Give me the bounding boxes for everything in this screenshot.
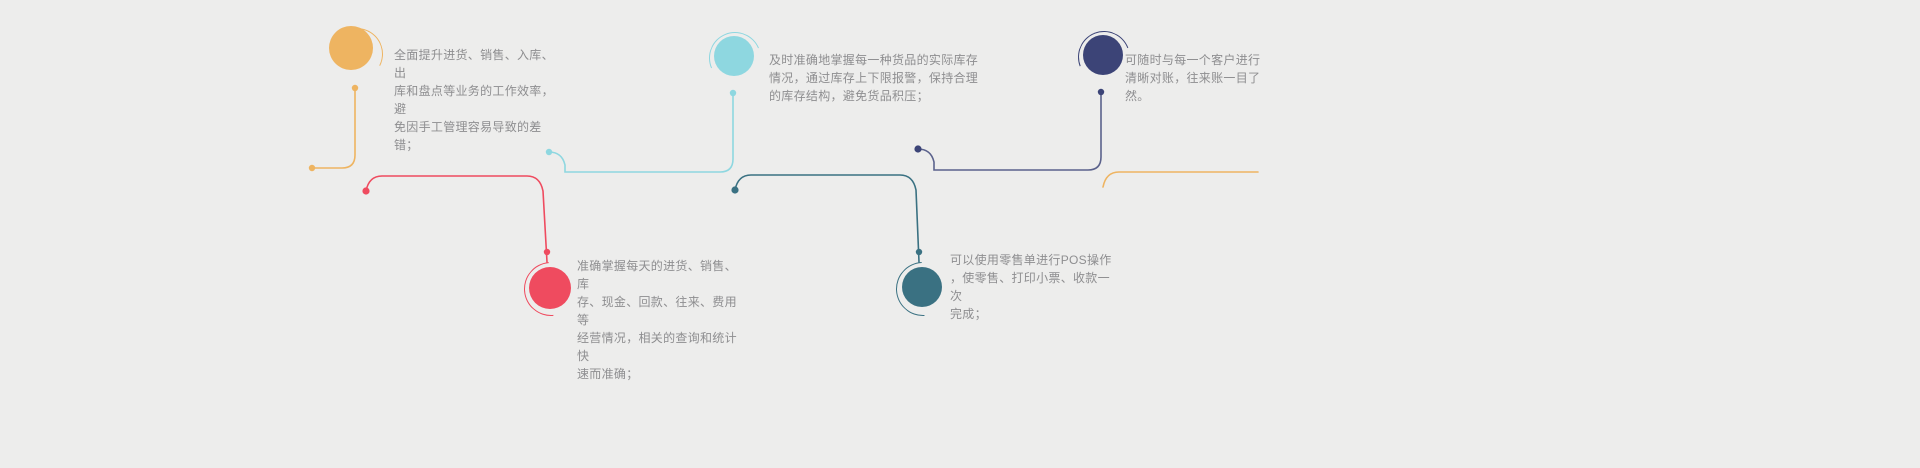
wire-navy-node-dot bbox=[1098, 89, 1104, 95]
infographic-canvas: 全面提升进货、销售、入库、出 库和盘点等业务的工作效率，避 免因手工管理容易导致… bbox=[0, 0, 1920, 468]
wire-pink bbox=[366, 176, 547, 262]
node-purchase-efficiency[interactable] bbox=[329, 26, 385, 82]
node-customer-reconciliation-text: 可随时与每一个客户进行 清晰对账，往来账一目了 然。 bbox=[1125, 51, 1265, 105]
node-disc bbox=[902, 267, 942, 307]
wire-orange-end-dot bbox=[309, 165, 315, 171]
wire-orange-start-dot bbox=[352, 85, 358, 91]
wire-teal bbox=[735, 175, 919, 262]
node-inventory-accuracy[interactable] bbox=[709, 32, 765, 88]
node-purchase-efficiency-text: 全面提升进货、销售、入库、出 库和盘点等业务的工作效率，避 免因手工管理容易导致… bbox=[394, 46, 564, 154]
node-inventory-accuracy-text: 及时准确地掌握每一种货品的实际库存 情况，通过库存上下限报警，保持合理 的库存结… bbox=[769, 51, 979, 105]
wire-cyan-node-dot bbox=[730, 90, 736, 96]
wire-pink-end-dot bbox=[362, 187, 369, 194]
wire-cyan bbox=[549, 93, 733, 172]
wire-pink-node-dot bbox=[544, 249, 550, 255]
node-disc bbox=[1083, 35, 1123, 75]
node-pos-retail[interactable] bbox=[896, 262, 952, 318]
node-disc bbox=[714, 36, 754, 76]
wire-orange bbox=[312, 88, 355, 168]
node-disc bbox=[329, 26, 373, 70]
node-disc bbox=[529, 267, 571, 309]
node-pos-retail-text: 可以使用零售单进行POS操作 ，使零售、打印小票、收款一次 完成； bbox=[950, 251, 1122, 323]
node-daily-operations-text: 准确掌握每天的进货、销售、库 存、现金、回款、往来、费用等 经营情况，相关的查询… bbox=[577, 257, 749, 383]
wire-navy-start-dot bbox=[914, 145, 921, 152]
wire-teal-end-dot bbox=[731, 186, 738, 193]
wire-orange-tail bbox=[1103, 172, 1258, 187]
node-daily-operations[interactable] bbox=[524, 262, 582, 320]
wire-teal-node-dot bbox=[916, 249, 922, 255]
